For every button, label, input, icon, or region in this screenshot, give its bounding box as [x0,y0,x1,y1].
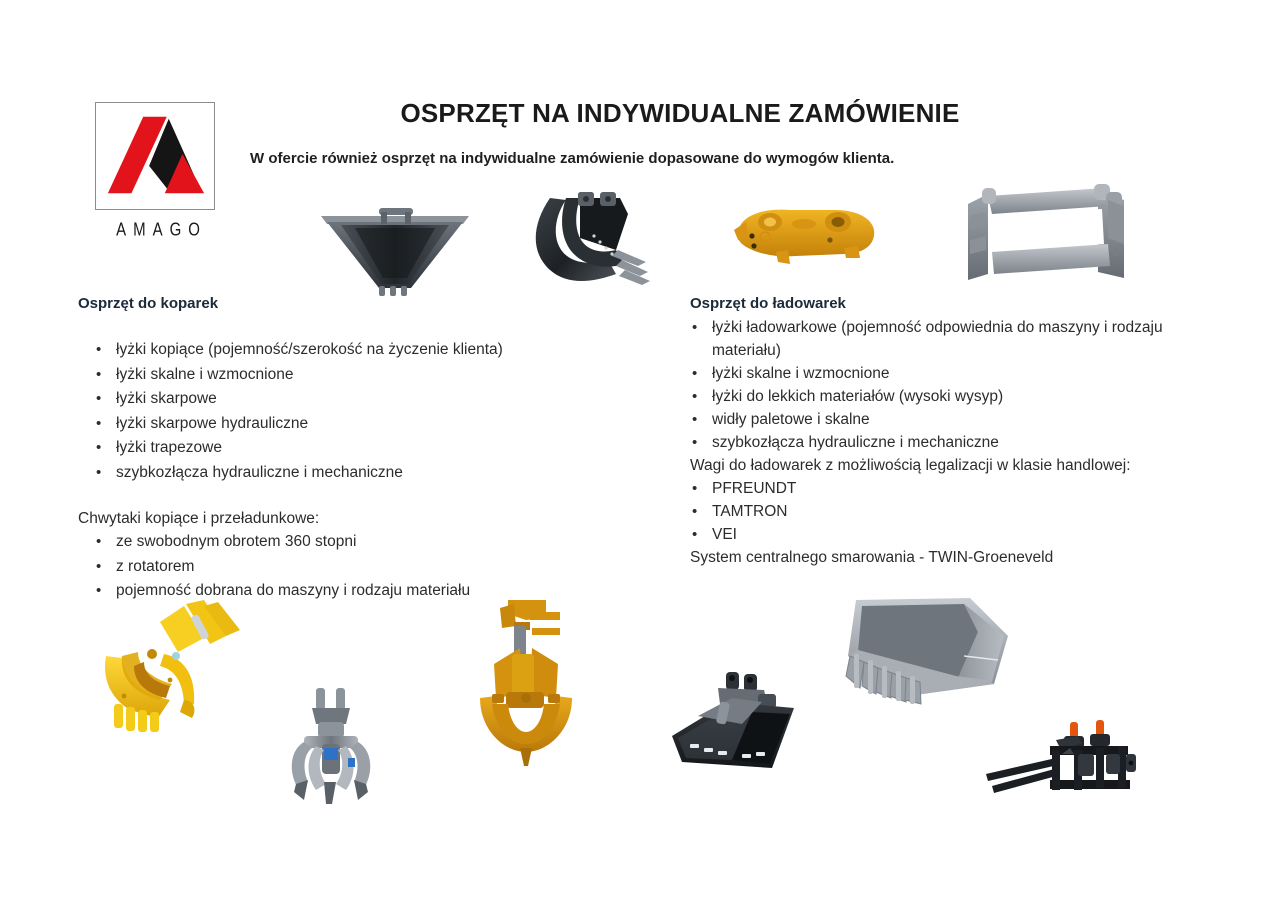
image-mechanical-coupler [958,182,1133,287]
excavator-attachments-column: Osprzęt do koparek łyżki kopiące (pojemn… [78,295,648,604]
image-hydraulic-coupler [732,200,882,270]
list-item: TAMTRON [690,500,1190,523]
image-trapezoid-bucket [315,198,475,298]
scale-brands-list: PFREUNDT TAMTRON VEI [690,477,1190,546]
list-item: widły paletowe i skalne [690,408,1190,431]
spacer [78,316,648,338]
company-logo: AMAGO [95,102,221,236]
list-item: szybkozłącza hydrauliczne i mechaniczne [78,461,648,486]
list-item: łyżki ładowarkowe (pojemność odpowiednia… [690,316,1190,362]
lubrication-note: System centralnego smarowania - TWIN-Gro… [690,546,1190,569]
logo-frame [95,102,215,210]
spacer [78,485,648,507]
grapples-bullet-list: ze swobodnym obrotem 360 stopni z rotato… [78,530,648,604]
list-item: VEI [690,523,1190,546]
list-item: szybkozłącza hydrauliczne i mechaniczne [690,431,1190,454]
list-item: łyżki kopiące (pojemność/szerokość na ży… [78,338,648,363]
left-column-heading: Osprzęt do koparek [78,295,648,312]
image-thumb-bucket [100,600,250,740]
list-item: łyżki do lekkich materiałów (wysoki wysy… [690,385,1190,408]
image-tilting-ditch-bucket [668,672,798,782]
document-page: AMAGO OSPRZĘT NA INDYWIDUALNE ZAMÓWIENIE… [0,0,1280,901]
right-column-heading: Osprzęt do ładowarek [690,295,1190,312]
page-subtitle: W ofercie również osprzęt na indywidualn… [250,150,1150,167]
list-item: łyżki trapezowe [78,436,648,461]
loader-attachments-column: Osprzęt do ładowarek łyżki ładowarkowe (… [690,295,1190,569]
list-item: łyżki skarpowe hydrauliczne [78,412,648,437]
page-title: OSPRZĘT NA INDYWIDUALNE ZAMÓWIENIE [250,98,1110,129]
list-item: ze swobodnym obrotem 360 stopni [78,530,648,555]
grapples-subheading: Chwytaki kopiące i przeładunkowe: [78,507,648,530]
list-item: z rotatorem [78,555,648,580]
image-orange-peel-grab [286,688,376,808]
image-pallet-forks [978,710,1138,805]
image-clamshell-grab [470,598,585,768]
list-item: łyżki skalne i wzmocnione [690,362,1190,385]
excavator-bullet-list: łyżki kopiące (pojemność/szerokość na ży… [78,338,648,485]
scales-intro-text: Wagi do ładowarek z możliwością legaliza… [690,454,1190,477]
list-item: łyżki skarpowe [78,387,648,412]
logo-wordmark: AMAGO [95,219,221,240]
loader-bullet-list: łyżki ładowarkowe (pojemność odpowiednia… [690,316,1190,454]
list-item: PFREUNDT [690,477,1190,500]
amago-a-mark-icon [96,103,214,209]
image-loader-bucket [838,592,1013,727]
list-item: łyżki skalne i wzmocnione [78,363,648,388]
image-digging-bucket [520,190,655,300]
